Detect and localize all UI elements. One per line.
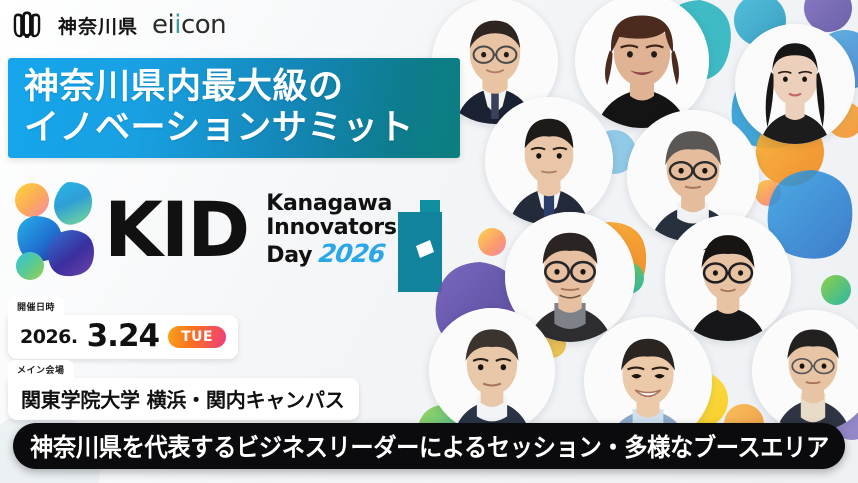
kid-wordmark: KID bbox=[104, 200, 248, 261]
event-dow-badge: TUE bbox=[168, 326, 226, 348]
speaker-portrait bbox=[429, 308, 555, 434]
event-date-tab-label: 開催日時 bbox=[8, 297, 64, 315]
bottom-tagline-banner: 神奈川県を代表するビジネスリーダーによるセッション・多様なブースエリア bbox=[13, 423, 845, 469]
event-date-card: 開催日時 2026. 3.24 TUE bbox=[8, 297, 238, 359]
event-venue-card: メイン会場 関東学院大学 横浜・関内キャンパス bbox=[8, 360, 359, 420]
bottom-tagline-text: 神奈川県を代表するビジネスリーダーによるセッション・多様なブースエリア bbox=[30, 428, 829, 464]
eiicon-i1: i bbox=[168, 12, 175, 38]
kid-blob-mark bbox=[8, 178, 96, 282]
speaker-portrait bbox=[752, 310, 858, 432]
brand-logo-row: 神奈川県 eiicon bbox=[10, 8, 226, 42]
kid-logo-block: KID Kanagawa Innovators Day 2026 bbox=[8, 178, 397, 282]
eiicon-logo: eiicon bbox=[152, 12, 226, 38]
event-venue-body: 関東学院大学 横浜・関内キャンパス bbox=[8, 378, 359, 420]
event-day: 3.24 bbox=[87, 321, 160, 352]
event-date-body: 2026. 3.24 TUE bbox=[8, 315, 238, 359]
eiicon-i2: i bbox=[174, 12, 181, 38]
event-banner-root: 神奈川県 eiicon 神奈川県内最大級の イノベーションサミット bbox=[0, 0, 858, 483]
event-year: 2026. bbox=[20, 326, 78, 348]
kid-sub-line-1: Kanagawa bbox=[266, 192, 396, 216]
kid-sub-line-3: Day bbox=[266, 244, 312, 268]
event-venue-tab-label: メイン会場 bbox=[8, 360, 74, 378]
kid-sub-line-3-row: Day 2026 bbox=[266, 240, 396, 268]
speaker-portrait bbox=[485, 97, 613, 225]
prefecture-label: 神奈川県 bbox=[58, 12, 138, 39]
eiicon-e: e bbox=[152, 12, 168, 38]
kanagawa-prefecture-emblem bbox=[10, 8, 44, 42]
headline-line-1: 神奈川県内最大級の bbox=[24, 67, 460, 108]
kid-year: 2026 bbox=[317, 240, 386, 268]
headline-line-2: イノベーションサミット bbox=[24, 108, 460, 149]
kid-sub-line-2: Innovators bbox=[266, 216, 396, 240]
headline-banner: 神奈川県内最大級の イノベーションサミット bbox=[8, 58, 460, 158]
kid-subtitle: Kanagawa Innovators Day 2026 bbox=[266, 192, 396, 269]
event-venue-name: 関東学院大学 横浜・関内キャンパス bbox=[21, 384, 345, 413]
eiicon-con: con bbox=[181, 12, 226, 38]
